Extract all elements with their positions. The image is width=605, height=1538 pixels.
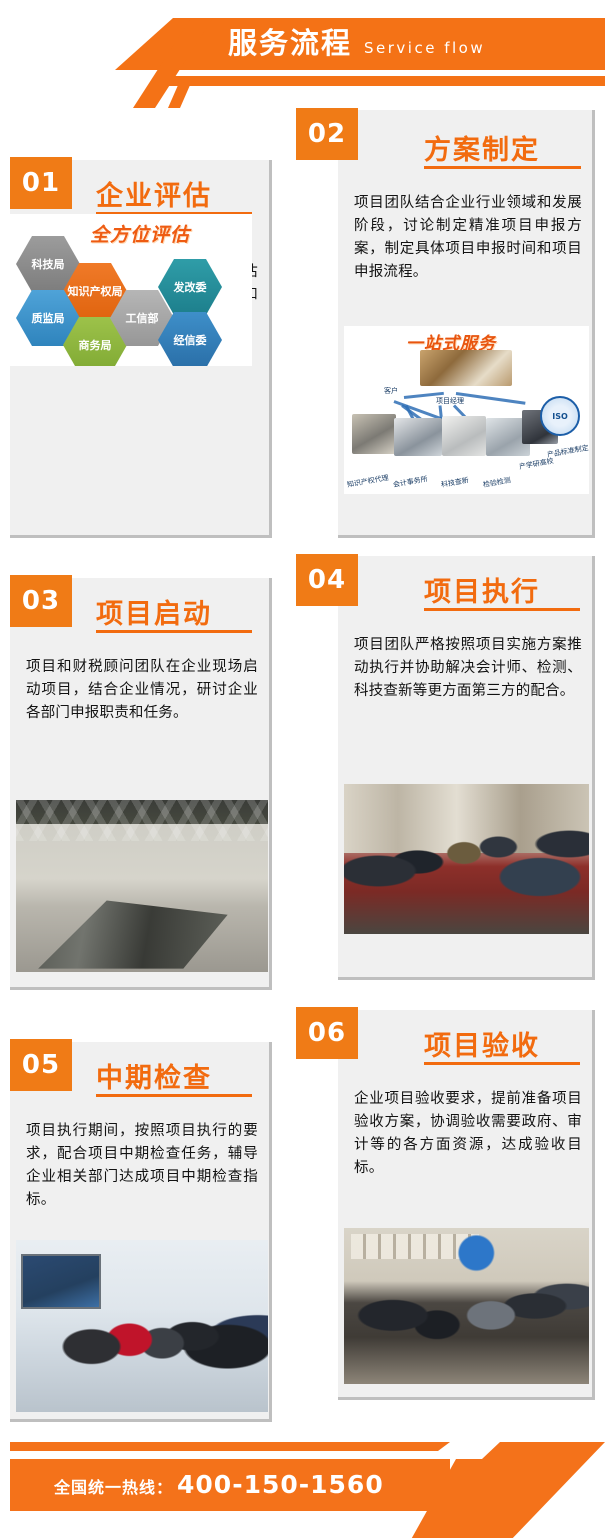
- hexagon-figure-title: 全方位评估: [90, 220, 190, 247]
- service-label-customer: 客户: [384, 386, 398, 396]
- service-label-manager: 项目经理: [436, 396, 464, 406]
- step-photo-05: [16, 1240, 268, 1412]
- photo-scene-showroom-visit: [16, 1240, 268, 1412]
- page-title-cn: 服务流程: [228, 22, 352, 64]
- photo-scene-working-session: [344, 784, 589, 934]
- title-underline-04: [424, 608, 580, 611]
- step-badge-06: 06: [296, 1007, 358, 1059]
- hotline-label: 全国统一热线：: [54, 1474, 173, 1498]
- step-title-01: 企业评估: [96, 174, 212, 213]
- hexagon-assessment-figure: 全方位评估 科技局 知识产权局 质监局 商务局 工信部 发改委 经信委: [10, 214, 252, 366]
- step-photo-03: [16, 800, 268, 972]
- step-badge-03: 03: [10, 575, 72, 627]
- step-photo-06: [344, 1228, 589, 1384]
- service-branch-label-3: 科技查新: [440, 475, 469, 490]
- footer-accent-bar: [10, 1442, 450, 1451]
- step-title-02: 方案制定: [424, 128, 540, 167]
- title-underline-03: [96, 630, 252, 633]
- step-body-06: 企业项目验收要求，提前准备项目验收方案，协调验收需要政府、审计等的各方面资源，达…: [354, 1088, 582, 1180]
- page-header: 服务流程 Service flow: [0, 0, 605, 108]
- step-title-04: 项目执行: [424, 570, 540, 609]
- service-node-2: [394, 418, 442, 456]
- title-underline-02: [424, 166, 581, 169]
- photo-scene-meeting-room: [16, 800, 268, 972]
- step-title-06: 项目验收: [424, 1024, 540, 1063]
- page-title-en: Service flow: [364, 39, 485, 57]
- service-arrow-2: [456, 392, 526, 405]
- infographic-page: 服务流程 Service flow 企业评估 项目团队拥有10年以上服务经验，1…: [0, 0, 605, 1538]
- service-branch-label-6: 产品标准制定: [546, 443, 589, 460]
- step-body-04: 项目团队严格按照项目实施方案推动执行并协助解决会计师、检测、科技查新等更方面第三…: [354, 634, 582, 703]
- hex-node-fagai: 发改委: [158, 259, 222, 315]
- step-badge-01: 01: [10, 157, 72, 209]
- service-node-3: [442, 416, 486, 456]
- service-branch-label-2: 会计事务所: [392, 474, 428, 490]
- step-title-03: 项目启动: [96, 592, 212, 631]
- step-photo-04: [344, 784, 589, 934]
- step-badge-04: 04: [296, 554, 358, 606]
- step-badge-05: 05: [10, 1039, 72, 1091]
- title-underline-06: [424, 1062, 580, 1065]
- service-node-1: [352, 414, 396, 454]
- service-branch-label-4: 检验检测: [482, 475, 511, 490]
- page-footer: 全国统一热线： 400-150-1560: [0, 1430, 605, 1538]
- service-center-photo: [420, 350, 512, 386]
- title-underline-05: [96, 1094, 252, 1097]
- step-body-03: 项目和财税顾问团队在企业现场启动项目，结合企业情况，研讨企业各部门申报职责和任务…: [26, 656, 258, 725]
- step-body-02: 项目团队结合企业行业领域和发展阶段，讨论制定精准项目申报方案，制定具体项目申报时…: [354, 192, 582, 284]
- header-accent-bar: [158, 76, 605, 86]
- step-badge-02: 02: [296, 108, 358, 160]
- hotline-number: 400-150-1560: [177, 1470, 384, 1499]
- step-body-05: 项目执行期间，按照项目执行的要求，配合项目中期检查任务，辅导企业相关部门达成项目…: [26, 1120, 258, 1212]
- iso-seal-icon: ISO: [540, 396, 580, 436]
- service-branch-label-1: 知识产权代理: [346, 473, 389, 490]
- one-stop-service-figure: 一站式服务 客户 项目经理 ISO 知识产权代理 会计事务所 科技查新 检验检测…: [344, 326, 589, 494]
- hotline: 全国统一热线： 400-150-1560: [54, 1470, 384, 1499]
- photo-scene-acceptance-meeting: [344, 1228, 589, 1384]
- page-title: 服务流程 Service flow: [228, 22, 485, 64]
- step-title-05: 中期检查: [96, 1056, 212, 1095]
